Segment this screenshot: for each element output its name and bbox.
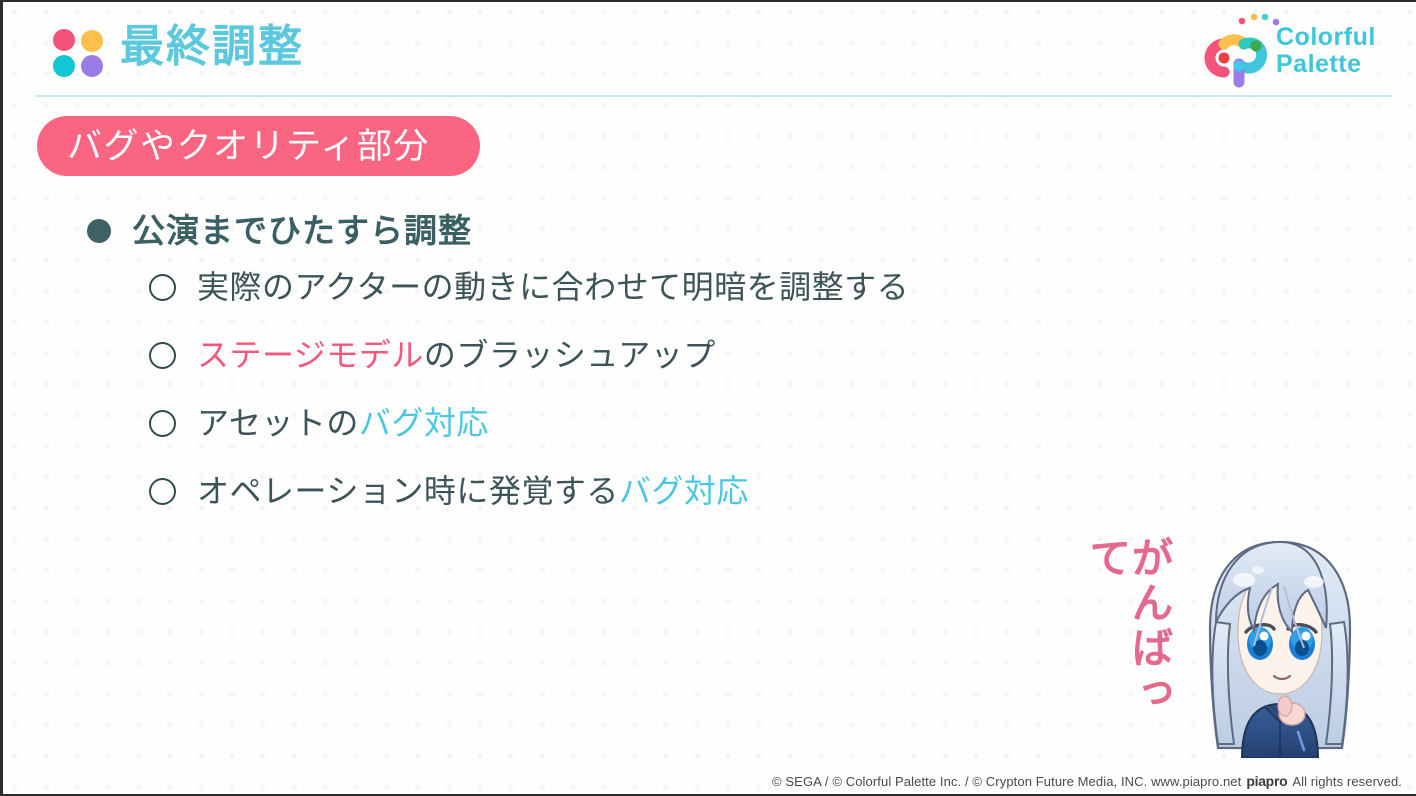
bullet-level2: 実際のアクターの動きに合わせて明暗を調整する [149, 267, 1087, 307]
bullet-level2: ステージモデルのブラッシュアップ [149, 335, 1087, 375]
cyan-dot-icon [53, 55, 75, 77]
sticker-caption: がんばって [1108, 536, 1170, 758]
bullet-level2: アセットのバグ対応 [149, 403, 1087, 443]
footer-copyright: © SEGA / © Colorful Palette Inc. / © Cry… [772, 773, 1402, 789]
text-segment-highlight: バグ対応 [619, 473, 749, 509]
hollow-circle-bullet-icon [149, 478, 176, 505]
footer-text-before: © SEGA / © Colorful Palette Inc. / © Cry… [772, 774, 1241, 789]
section-heading-banner: バグやクオリティ部分 [37, 116, 480, 176]
slide-header: 最終調整 Colorful Palette [3, 2, 1416, 98]
character-sticker: がんばって [1104, 530, 1380, 758]
hollow-circle-bullet-icon [149, 410, 176, 437]
text-segment-highlight: バグ対応 [359, 405, 489, 441]
brand-line-1: Colorful [1276, 24, 1376, 51]
bullet-level2: オペレーション時に発覚するバグ対応 [149, 471, 1087, 511]
bullet-level1: 公演までひたすら調整 [87, 210, 1087, 251]
pink-dot-icon [53, 29, 75, 51]
purple-dot-icon [81, 55, 103, 77]
brand-wordmark: Colorful Palette [1276, 24, 1376, 77]
hollow-circle-bullet-icon [149, 342, 176, 369]
presentation-slide: 最終調整 Colorful Palette [0, 0, 1416, 796]
four-dots-logo-icon [53, 29, 106, 77]
text-segment: オペレーション時に発覚する [197, 473, 619, 509]
header-divider [35, 95, 1393, 97]
bullet-list: 公演までひたすら調整 実際のアクターの動きに合わせて明暗を調整する ステージモデ… [87, 210, 1087, 539]
hollow-circle-bullet-icon [149, 274, 176, 301]
section-heading-label: バグやクオリティ部分 [67, 129, 430, 164]
bullet-level2-label: アセットのバグ対応 [197, 403, 489, 443]
piapro-wordmark: piapro [1246, 773, 1287, 789]
colorful-palette-brand-logo: Colorful Palette [1194, 12, 1394, 90]
slide-title: 最終調整 [120, 22, 304, 73]
brand-line-2: Palette [1276, 51, 1376, 78]
text-segment: アセットの [197, 405, 359, 441]
bullet-level2-label: 実際のアクターの動きに合わせて明暗を調整する [197, 267, 909, 307]
bullet-sublist: 実際のアクターの動きに合わせて明暗を調整する ステージモデルのブラッシュアップ … [149, 267, 1087, 511]
text-segment: のブラッシュアップ [424, 337, 716, 373]
footer-text-after: All rights reserved. [1292, 774, 1402, 789]
text-segment: 実際のアクターの動きに合わせて明暗を調整する [197, 269, 909, 305]
filled-circle-bullet-icon [87, 219, 111, 243]
bullet-level2-label: オペレーション時に発覚するバグ対応 [197, 471, 749, 511]
bullet-level1-label: 公演までひたすら調整 [132, 210, 472, 251]
chibi-character-illustration [1180, 536, 1380, 758]
text-segment-highlight: ステージモデル [197, 337, 424, 373]
bullet-level2-label: ステージモデルのブラッシュアップ [197, 335, 716, 375]
yellow-dot-icon [81, 30, 103, 52]
